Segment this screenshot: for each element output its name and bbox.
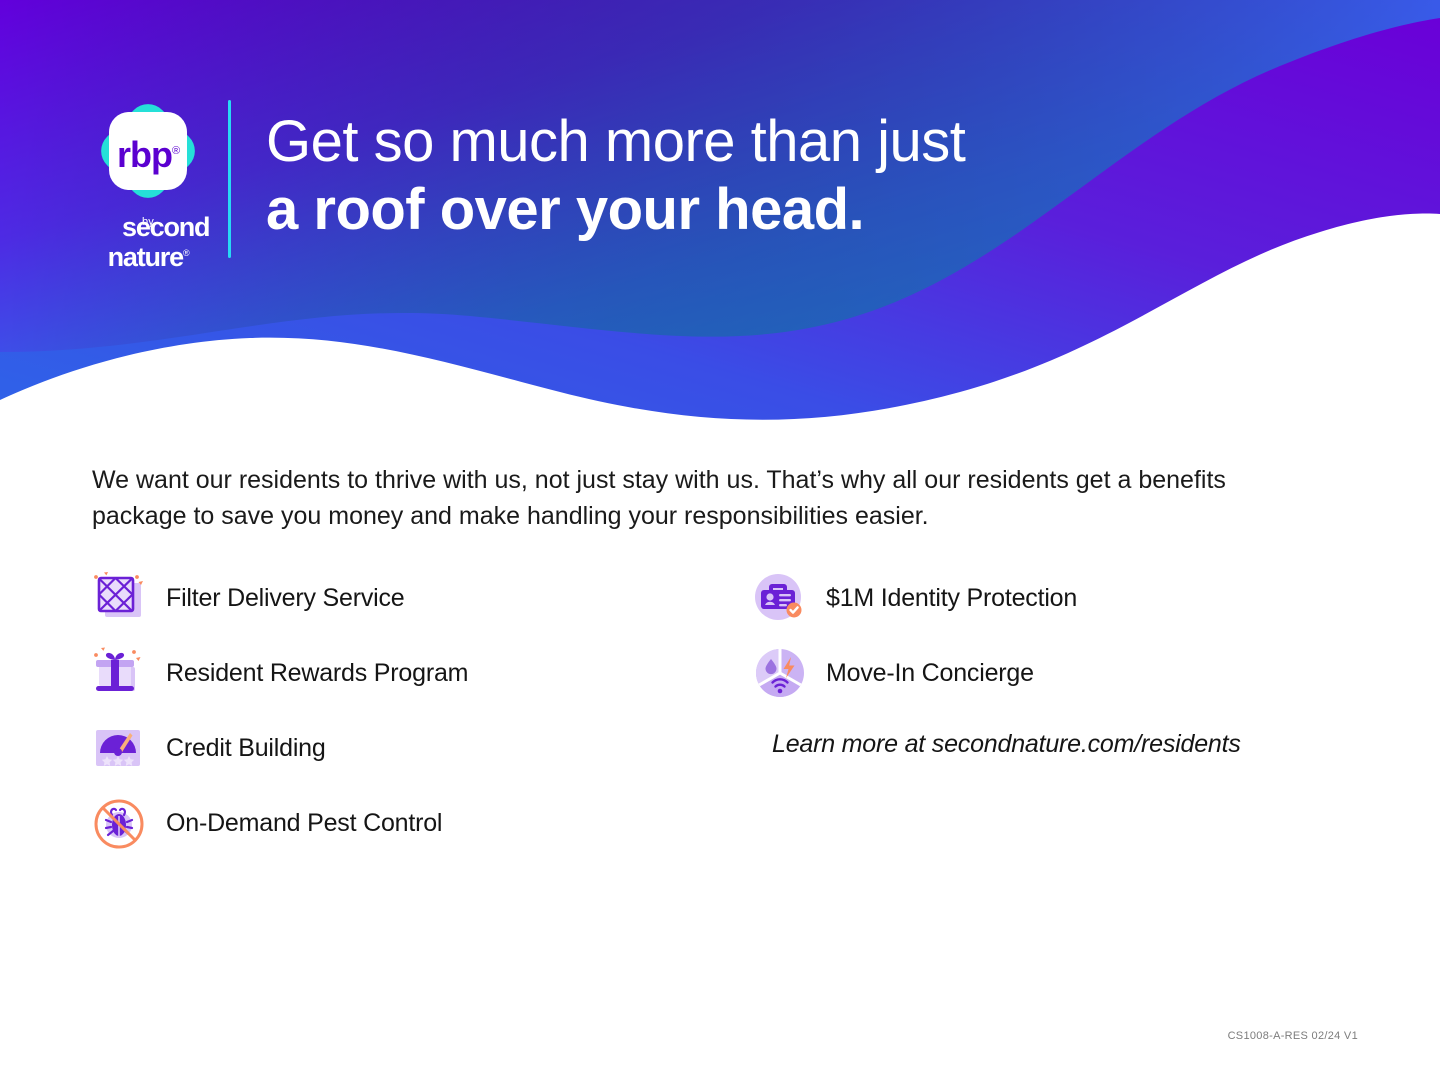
- air-filter-icon: [92, 570, 148, 626]
- benefit-item: Credit Building: [92, 710, 752, 785]
- utilities-icon: [752, 645, 808, 701]
- logo-nature-text: nature®: [88, 240, 208, 270]
- headline-line-2: a roof over your head.: [266, 176, 1166, 244]
- benefit-label: Credit Building: [166, 733, 326, 763]
- learn-more-text: Learn more at secondnature.com/residents: [772, 728, 1241, 760]
- benefit-label: $1M Identity Protection: [826, 583, 1077, 613]
- credit-gauge-icon: [92, 720, 148, 776]
- logo-registered-mark: ®: [172, 145, 179, 157]
- benefits-section: Filter Delivery Service: [92, 560, 1352, 860]
- id-shield-icon: [752, 570, 808, 626]
- logo-rbp-text: rbp®: [93, 131, 203, 175]
- rbp-logo-mark: rbp®: [93, 96, 203, 206]
- logo-headline-divider: [228, 100, 231, 258]
- benefit-item: On-Demand Pest Control: [92, 785, 752, 860]
- benefit-label: Filter Delivery Service: [166, 583, 405, 613]
- benefit-label: On-Demand Pest Control: [166, 808, 442, 838]
- headline-line-1: Get so much more than just: [266, 108, 1166, 176]
- benefit-item: $1M Identity Protection: [752, 560, 1352, 635]
- benefits-column-right: $1M Identity Protection: [752, 560, 1352, 860]
- gift-box-icon: [92, 645, 148, 701]
- intro-paragraph: We want our residents to thrive with us,…: [92, 462, 1307, 534]
- benefit-label: Move-In Concierge: [826, 658, 1034, 688]
- logo-nature-registered-mark: ®: [183, 248, 188, 258]
- logo-nature-word: nature: [108, 242, 183, 272]
- footer-document-code: CS1008-A-RES 02/24 V1: [1228, 1030, 1358, 1042]
- no-pest-icon: [92, 795, 148, 851]
- hero-banner: rbp® by second nature® Get so much more …: [0, 0, 1440, 430]
- logo-second-text: second: [88, 215, 208, 240]
- brand-logo-lockup: rbp® by second nature®: [88, 96, 208, 270]
- logo-rbp-letters: rbp: [117, 134, 172, 175]
- benefit-label: Resident Rewards Program: [166, 658, 468, 688]
- hero-headline: Get so much more than just a roof over y…: [266, 108, 1166, 244]
- benefit-item: Move-In Concierge: [752, 635, 1352, 710]
- benefit-item: Filter Delivery Service: [92, 560, 752, 635]
- benefits-column-left: Filter Delivery Service: [92, 560, 752, 860]
- benefit-item: Resident Rewards Program: [92, 635, 752, 710]
